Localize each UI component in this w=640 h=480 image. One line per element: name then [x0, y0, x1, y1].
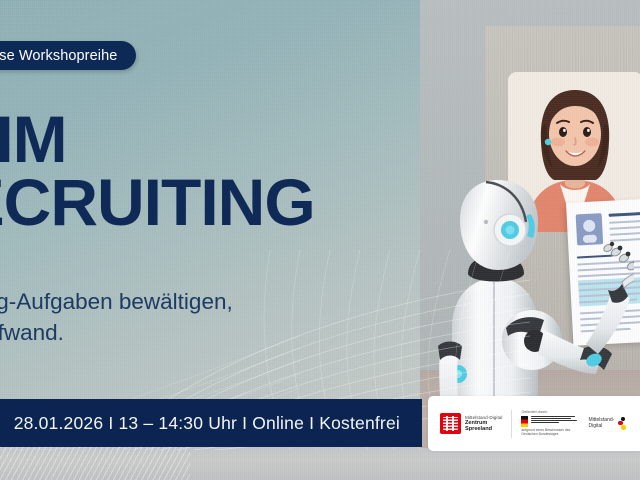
headline-line-2: RECRUITING: [0, 171, 315, 234]
mdz-logo-wordmark: Mittelstand-Digital Zentrum Spreeland: [465, 415, 502, 433]
bmwk-emblem-row: [521, 416, 577, 427]
subtitle: Mehr Recruiting-Aufgaben bewältigen, wen…: [0, 286, 233, 348]
page-title: KI IM RECRUITING: [0, 108, 315, 235]
event-info-bar: 28.01.2026 I 13 – 14:30 Uhr I Online I K…: [0, 399, 422, 447]
bmwk-bundestag-note: aufgrund eines Beschlusses des Deutschen…: [521, 429, 573, 437]
subtitle-line-2: weniger Zeitaufwand.: [0, 317, 233, 348]
logo-mittelstand-digital: Mittelstand- Digital: [588, 417, 627, 431]
mdz-logo-mark-icon: [440, 413, 461, 434]
md-logo-wordmark: Mittelstand- Digital: [588, 418, 614, 430]
workshop-series-badge: Kostenlose Workshopreihe: [0, 41, 136, 70]
subtitle-line-1: Mehr Recruiting-Aufgaben bewältigen,: [0, 286, 233, 317]
bmwk-wordmark-lines: [531, 416, 577, 423]
logo-federal-ministry: Gefördert durch: aufgrund eines Beschlus…: [521, 410, 577, 437]
webinar-banner: Kostenlose Workshopreihe KI IM RECRUITIN…: [0, 0, 640, 480]
md-logo-line-2: Digital: [588, 424, 614, 430]
german-flag-icon: [521, 416, 528, 427]
footer-strip: [0, 447, 640, 480]
headline-line-1: KI IM: [0, 108, 315, 171]
md-logo-dots-icon: [618, 417, 627, 431]
event-details-text: 28.01.2026 I 13 – 14:30 Uhr I Online I K…: [14, 413, 400, 434]
mdz-logo-line-3: Spreeland: [465, 426, 502, 432]
badge-label: Kostenlose Workshopreihe: [0, 48, 117, 64]
logo-divider: [511, 410, 512, 438]
logo-mittelstand-digital-zentrum-spreeland: Mittelstand-Digital Zentrum Spreeland: [440, 413, 502, 434]
logo-panel: Mittelstand-Digital Zentrum Spreeland Ge…: [428, 396, 640, 451]
bmwk-funding-note: Gefördert durch:: [521, 410, 577, 414]
photo-composition: [420, 0, 640, 448]
